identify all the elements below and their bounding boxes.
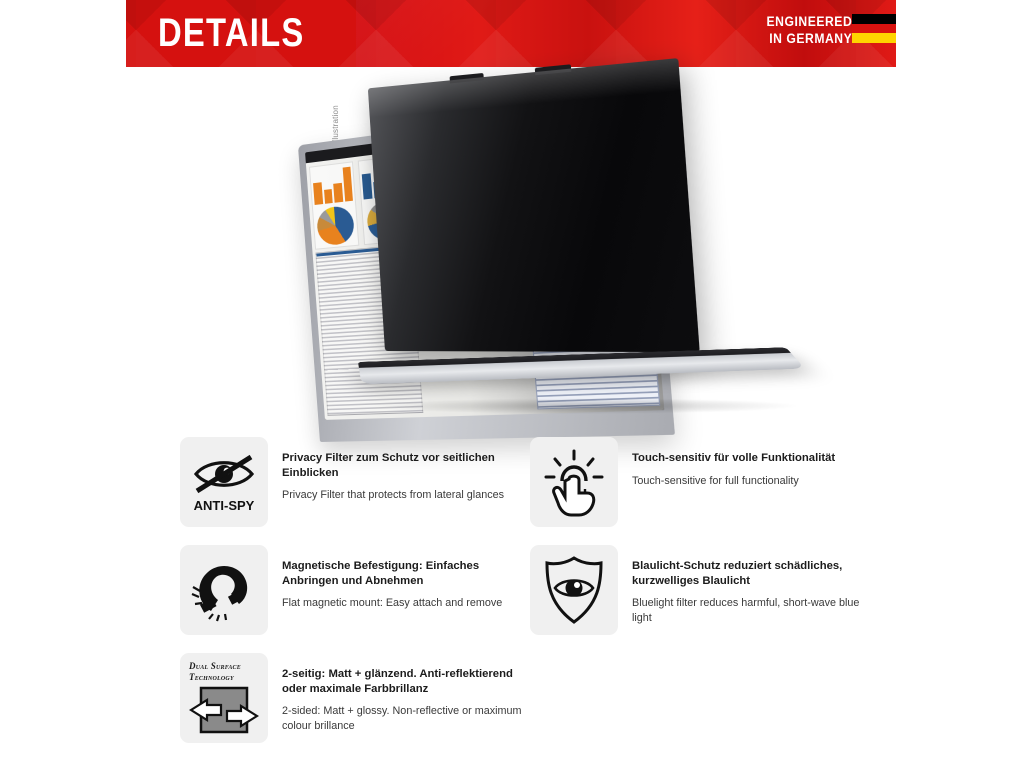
feature-subtitle: Touch-sensitive for full functionality bbox=[632, 474, 835, 489]
engineered-line-1: ENGINEERED bbox=[766, 13, 852, 30]
flag-stripe-black bbox=[852, 14, 896, 24]
mini-chart-orange bbox=[309, 161, 360, 250]
feature-bluelight-filter: Blaulicht-Schutz reduziert schädliches, … bbox=[530, 545, 880, 635]
magnet-icon bbox=[189, 557, 259, 623]
feature-title: 2-seitig: Matt + glänzend. Anti-reflekti… bbox=[282, 667, 527, 696]
flag-stripe-gold bbox=[852, 33, 896, 43]
shield-eye-icon bbox=[541, 554, 607, 626]
feature-text: Blaulicht-Schutz reduziert schädliches, … bbox=[632, 545, 877, 625]
anti-spy-eye-icon: ANTI-SPY bbox=[188, 446, 260, 518]
feature-anti-spy: ANTI-SPY Privacy Filter zum Schutz vor s… bbox=[180, 437, 530, 527]
flag-stripe-red bbox=[852, 24, 896, 34]
feature-title: Privacy Filter zum Schutz vor seitlichen… bbox=[282, 451, 527, 480]
panel-tab-left bbox=[450, 73, 484, 83]
feature-touch-sensitive: Touch-sensitiv für volle Funktionalität … bbox=[530, 437, 880, 527]
feature-icon-tile: ANTI-SPY bbox=[180, 437, 268, 527]
engineered-line-2: IN GERMANY bbox=[766, 30, 852, 47]
feature-magnetic-mount: Magnetische Befestigung: Einfaches Anbri… bbox=[180, 545, 530, 635]
privacy-filter-panel bbox=[368, 58, 700, 352]
dual-surface-label: Dual Surface Technology bbox=[189, 661, 268, 682]
feature-dual-surface: Dual Surface Technology 2-seitig: Matt +… bbox=[180, 653, 530, 743]
feature-column-left: ANTI-SPY Privacy Filter zum Schutz vor s… bbox=[180, 437, 530, 761]
engineered-in-germany-label: ENGINEERED IN GERMANY bbox=[766, 13, 852, 47]
laptop-shadow bbox=[366, 398, 805, 414]
touch-finger-icon bbox=[541, 447, 607, 517]
product-photo: Beispielabbildung | Sample Illustration bbox=[300, 80, 860, 430]
bar-series-orange bbox=[312, 165, 353, 205]
feature-text: 2-seitig: Matt + glänzend. Anti-reflekti… bbox=[282, 653, 527, 733]
feature-column-right: Touch-sensitiv für volle Funktionalität … bbox=[530, 437, 880, 653]
feature-text: Touch-sensitiv für volle Funktionalität … bbox=[632, 437, 835, 488]
dual-surface-icon bbox=[189, 686, 259, 736]
feature-title: Touch-sensitiv für volle Funktionalität bbox=[632, 451, 835, 466]
feature-icon-tile: Dual Surface Technology bbox=[180, 653, 268, 743]
feature-icon-tile bbox=[530, 437, 618, 527]
feature-icon-tile bbox=[530, 545, 618, 635]
feature-icon-tile bbox=[180, 545, 268, 635]
german-flag-icon bbox=[852, 14, 896, 43]
feature-subtitle: Bluelight filter reduces harmful, short-… bbox=[632, 596, 877, 625]
svg-text:ANTI-SPY: ANTI-SPY bbox=[194, 498, 255, 513]
feature-title: Magnetische Befestigung: Einfaches Anbri… bbox=[282, 559, 527, 588]
feature-title: Blaulicht-Schutz reduziert schädliches, … bbox=[632, 559, 877, 588]
pie-chart-1 bbox=[316, 205, 355, 247]
feature-text: Magnetische Befestigung: Einfaches Anbri… bbox=[282, 545, 527, 611]
details-banner: DETAILS ENGINEERED IN GERMANY bbox=[126, 0, 896, 67]
feature-subtitle: Flat magnetic mount: Easy attach and rem… bbox=[282, 596, 527, 611]
feature-text: Privacy Filter zum Schutz vor seitlichen… bbox=[282, 437, 527, 503]
feature-subtitle: 2-sided: Matt + glossy. Non-reflective o… bbox=[282, 704, 527, 733]
feature-subtitle: Privacy Filter that protects from latera… bbox=[282, 488, 527, 503]
page-title: DETAILS bbox=[158, 9, 304, 57]
